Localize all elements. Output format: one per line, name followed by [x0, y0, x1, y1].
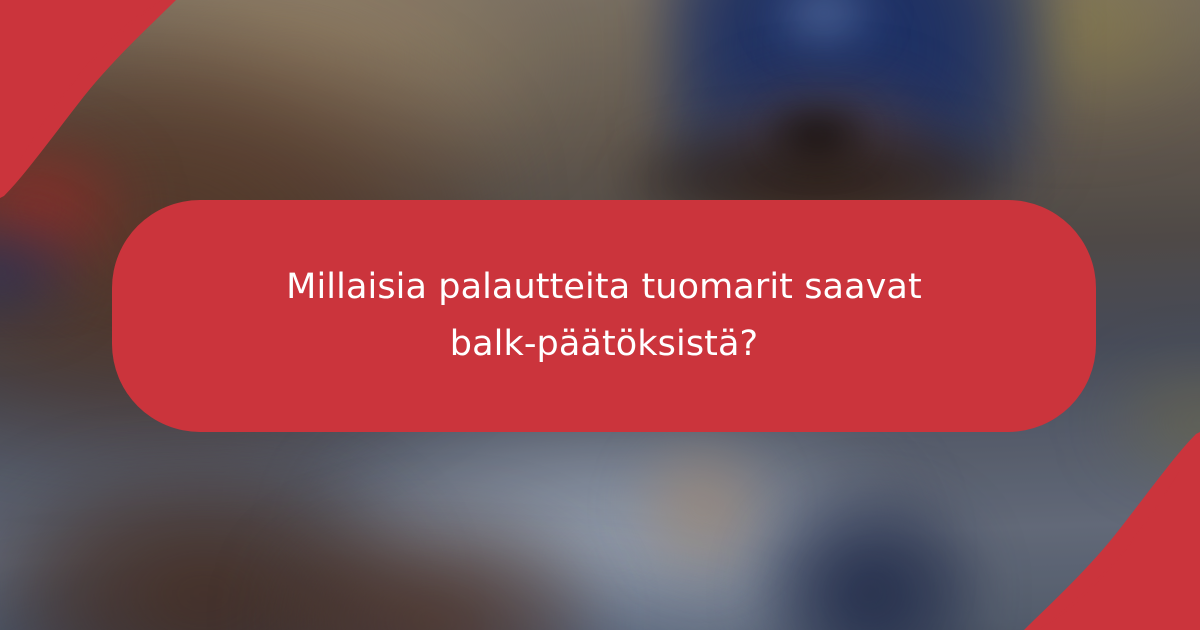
title-card: Millaisia palautteita tuomarit saavat ba… — [112, 200, 1096, 432]
og-image-card: Millaisia palautteita tuomarit saavat ba… — [0, 0, 1200, 630]
page-title: Millaisia palautteita tuomarit saavat ba… — [254, 259, 954, 372]
